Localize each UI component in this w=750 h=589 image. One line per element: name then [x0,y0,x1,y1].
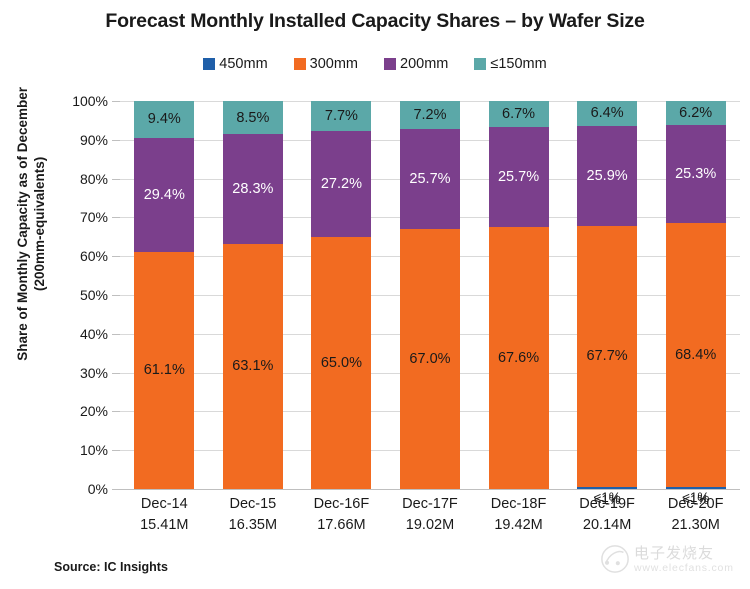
bar-segment-200mm[interactable]: 29.4% [134,138,194,252]
bar-segment-label: 9.4% [148,112,181,127]
bar-segment-label: 63.1% [232,359,273,374]
x-axis-label: Dec-1415.41M [120,494,209,536]
x-axis-label: Dec-1516.35M [209,494,298,536]
x-axis-capacity: 19.42M [474,515,563,536]
bar-segment-200mm[interactable]: 25.7% [400,129,460,229]
bar-segment-label: 6.4% [591,106,624,121]
y-axis-tick-label: 100% [72,93,108,109]
bar-segment-450mm[interactable]: <1% [666,487,726,489]
y-axis-tick-label: 60% [80,248,108,264]
bar-segment-150mm[interactable]: 6.7% [489,101,549,127]
y-axis-tick-label: 30% [80,365,108,381]
bar-segment-label: 67.7% [587,349,628,364]
x-axis-label: Dec-20F21.30M [651,494,740,536]
stacked-bar[interactable]: 6.2%25.3%68.4%<1% [666,101,726,489]
bar-group[interactable]: 8.5%28.3%63.1% [209,101,298,489]
y-axis-tick [112,411,120,412]
bar-segment-200mm[interactable]: 25.9% [577,126,637,226]
bar-segment-label: 6.2% [679,106,712,121]
x-axis-label: Dec-19F20.14M [563,494,652,536]
bar-segment-150mm[interactable]: 6.4% [577,101,637,126]
y-axis-tick-label: 50% [80,287,108,303]
x-axis-period: Dec-14 [120,494,209,515]
bar-segment-300mm[interactable]: 67.0% [400,229,460,489]
bar-segment-label: 7.2% [413,108,446,123]
bar-segment-300mm[interactable]: 67.7% [577,226,637,488]
bar-segment-label: 61.1% [144,363,185,378]
plot-area: 100%90%80%70%60%50%40%30%20%10%0% 9.4%29… [120,101,740,489]
x-axis-capacity: 17.66M [297,515,386,536]
x-axis-period: Dec-15 [209,494,298,515]
x-axis-capacity: 20.14M [563,515,652,536]
y-axis-tick [112,295,120,296]
bar-segment-300mm[interactable]: 65.0% [311,237,371,489]
x-axis-period: Dec-18F [474,494,563,515]
bar-segment-200mm[interactable]: 28.3% [223,134,283,244]
y-axis-tick [112,334,120,335]
y-axis-tick [112,373,120,374]
y-axis-tick-label: 0% [88,481,108,497]
bar-segment-label: 25.7% [409,172,450,187]
bar-segment-150mm[interactable]: 6.2% [666,101,726,125]
x-axis-label: Dec-16F17.66M [297,494,386,536]
bar-segment-300mm[interactable]: 63.1% [223,244,283,489]
bar-segment-label: 67.0% [409,352,450,367]
x-axis-capacity: 19.02M [386,515,475,536]
bar-group[interactable]: 6.7%25.7%67.6% [474,101,563,489]
x-axis-label: Dec-17F19.02M [386,494,475,536]
stacked-bar[interactable]: 7.2%25.7%67.0% [400,101,460,489]
y-axis-tick [112,450,120,451]
x-axis-period: Dec-17F [386,494,475,515]
y-axis-tick-label: 10% [80,442,108,458]
y-axis-tick-label: 20% [80,403,108,419]
y-axis-tick-label: 80% [80,171,108,187]
bar-segment-300mm[interactable]: 61.1% [134,252,194,489]
gridline [120,489,740,490]
stacked-bar[interactable]: 7.7%27.2%65.0% [311,101,371,489]
stacked-bar[interactable]: 6.7%25.7%67.6% [489,101,549,489]
y-axis-tick-label: 40% [80,326,108,342]
bar-segment-150mm[interactable]: 9.4% [134,101,194,137]
y-axis-tick [112,217,120,218]
y-axis-title: Share of Monthly Capacity as of December… [15,24,49,424]
bar-segment-label: 7.7% [325,109,358,124]
y-axis-tick [112,256,120,257]
x-axis-capacity: 21.30M [651,515,740,536]
bar-segment-200mm[interactable]: 25.3% [666,125,726,223]
bar-segment-450mm[interactable]: <1% [577,487,637,489]
x-axis-labels: Dec-1415.41MDec-1516.35MDec-16F17.66MDec… [120,494,740,536]
bar-segment-200mm[interactable]: 25.7% [489,127,549,227]
bar-segment-label: 68.4% [675,348,716,363]
bar-segment-300mm[interactable]: 67.6% [489,227,549,489]
bar-segment-label: 25.7% [498,170,539,185]
stacked-bar[interactable]: 6.4%25.9%67.7%<1% [577,101,637,489]
bar-segment-150mm[interactable]: 7.7% [311,101,371,131]
stacked-bar[interactable]: 9.4%29.4%61.1% [134,101,194,489]
bar-segment-label: 8.5% [236,111,269,126]
source-note: Source: IC Insights [54,560,168,574]
bar-segment-label: 29.4% [144,188,185,203]
bar-segment-label: 65.0% [321,356,362,371]
bar-group[interactable]: 7.7%27.2%65.0% [297,101,386,489]
y-axis-title-line1: Share of Monthly Capacity as of December [15,87,30,361]
stacked-bar[interactable]: 8.5%28.3%63.1% [223,101,283,489]
bar-segment-label: 25.3% [675,167,716,182]
bar-group[interactable]: 7.2%25.7%67.0% [386,101,475,489]
bar-group[interactable]: 6.2%25.3%68.4%<1%<1% [651,101,740,489]
x-axis-capacity: 15.41M [120,515,209,536]
bar-segment-150mm[interactable]: 8.5% [223,101,283,134]
bar-segment-150mm[interactable]: 7.2% [400,101,460,129]
y-axis-tick-label: 70% [80,209,108,225]
bar-series-container: 9.4%29.4%61.1%8.5%28.3%63.1%7.7%27.2%65.… [120,101,740,489]
y-axis-tick [112,179,120,180]
x-axis-period: Dec-20F [651,494,740,515]
bar-group[interactable]: 9.4%29.4%61.1% [120,101,209,489]
y-axis-tick [112,489,120,490]
bar-segment-label: 25.9% [587,169,628,184]
bar-segment-300mm[interactable]: 68.4% [666,223,726,487]
x-axis-period: Dec-19F [563,494,652,515]
bar-segment-200mm[interactable]: 27.2% [311,131,371,237]
y-axis-tick-label: 90% [80,132,108,148]
y-axis-tick [112,101,120,102]
x-axis-period: Dec-16F [297,494,386,515]
y-axis-tick [112,140,120,141]
bar-segment-label: 6.7% [502,107,535,122]
y-axis-title-line2: (200mm-equivalents) [32,157,47,291]
bar-segment-label: 28.3% [232,182,273,197]
x-axis-label: Dec-18F19.42M [474,494,563,536]
bar-group[interactable]: 6.4%25.9%67.7%<1%<1% [563,101,652,489]
bar-segment-label: 67.6% [498,351,539,366]
x-axis-capacity: 16.35M [209,515,298,536]
bar-segment-label: 27.2% [321,177,362,192]
